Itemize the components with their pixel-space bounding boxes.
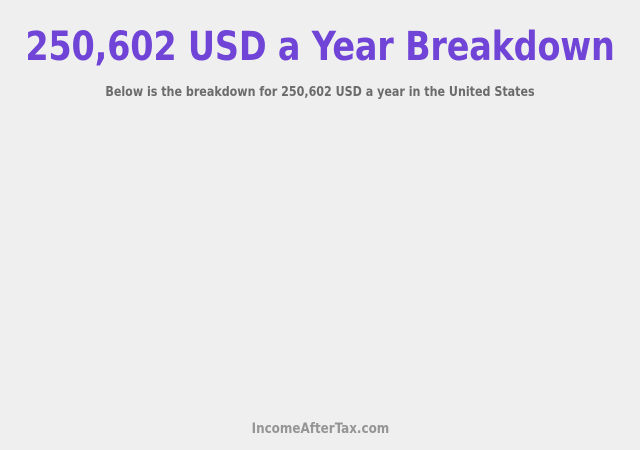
breakdown-pie-chart bbox=[0, 112, 640, 402]
income-breakdown-page: 250,602 USD a Year Breakdown Below is th… bbox=[0, 0, 640, 450]
page-subtitle: Below is the breakdown for 250,602 USD a… bbox=[16, 84, 624, 101]
page-title: 250,602 USD a Year Breakdown bbox=[22, 24, 617, 70]
chart-area bbox=[0, 112, 640, 402]
site-footer: IncomeAfterTax.com bbox=[0, 420, 640, 439]
site-footer-label: IncomeAfterTax.com bbox=[251, 420, 389, 439]
